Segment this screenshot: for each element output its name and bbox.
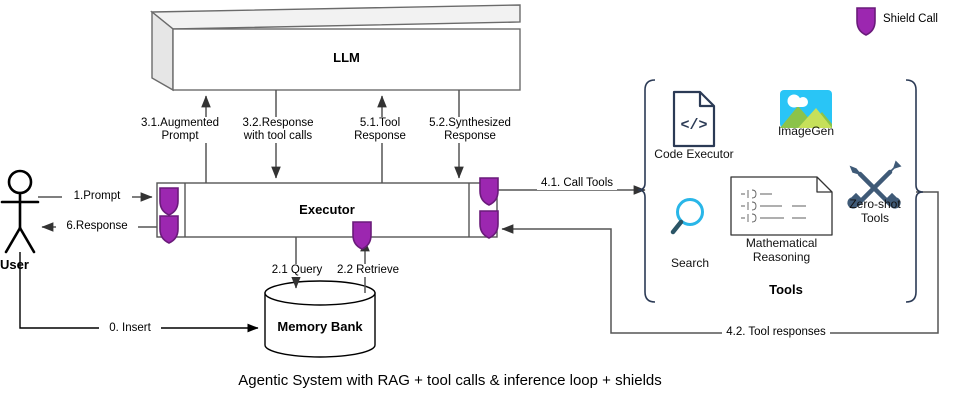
edge-insert [20,252,258,328]
edge-label-prompt: 1.Prompt [62,190,132,203]
tool-label-imagegen: ImageGen [766,124,846,138]
edge-label-augmented-prompt: 3.1.Augmented Prompt [141,117,219,143]
code-document-icon[interactable]: </> [674,92,714,146]
shield-icon-executor-left-top [160,188,178,215]
llm-node[interactable] [152,5,520,90]
diagram-canvas: </> [0,0,970,411]
diagram-caption: Agentic System with RAG + tool calls & i… [0,372,900,389]
edge-label-response: 6.Response [56,220,138,233]
executor-label: Executor [257,202,397,217]
user-label: User [0,257,42,272]
tools-left-brace [638,80,655,302]
memory-bank-label: Memory Bank [255,319,385,334]
legend-shield-label: Shield Call [883,13,938,25]
tools-right-brace [906,80,923,302]
edge-label-tool-responses: 4.2. Tool responses [722,326,830,339]
formula-document-icon[interactable] [731,177,832,235]
shield-icon-legend [857,8,875,35]
tool-label-code-executor: Code Executor [644,147,744,161]
edge-label-query: 2.1 Query [266,264,328,277]
edge-label-response-with-tool-calls: 3.2.Response with tool calls [238,117,318,143]
user-figure[interactable] [2,171,38,252]
edge-label-call-tools: 4.1. Call Tools [537,177,617,190]
image-gen-icon[interactable] [780,90,832,128]
edge-label-retrieve: 2.2 Retrieve [332,264,404,277]
shield-icon-executor-bottom [353,222,371,249]
tool-label-math-reasoning: Mathematical Reasoning [731,236,832,264]
tool-label-zero-shot-tools: Zero-shot Tools [840,197,910,225]
shield-icon-executor-right-top [480,178,498,205]
edge-label-insert: 0. Insert [99,322,161,335]
svg-text:</>: </> [680,117,707,134]
tools-group-label: Tools [746,283,826,296]
shield-icon-executor-right-bottom [480,211,498,238]
edge-label-synthesized-response: 5.2.Synthesized Response [427,117,513,143]
shield-icon-executor-left-bottom [160,216,178,243]
llm-label: LLM [253,50,440,65]
edge-label-tool-response: 5.1.Tool Response [349,117,411,143]
diagram-vector-layer: </> [0,0,970,411]
magnifier-icon[interactable] [673,200,703,233]
tool-label-search: Search [655,256,725,270]
